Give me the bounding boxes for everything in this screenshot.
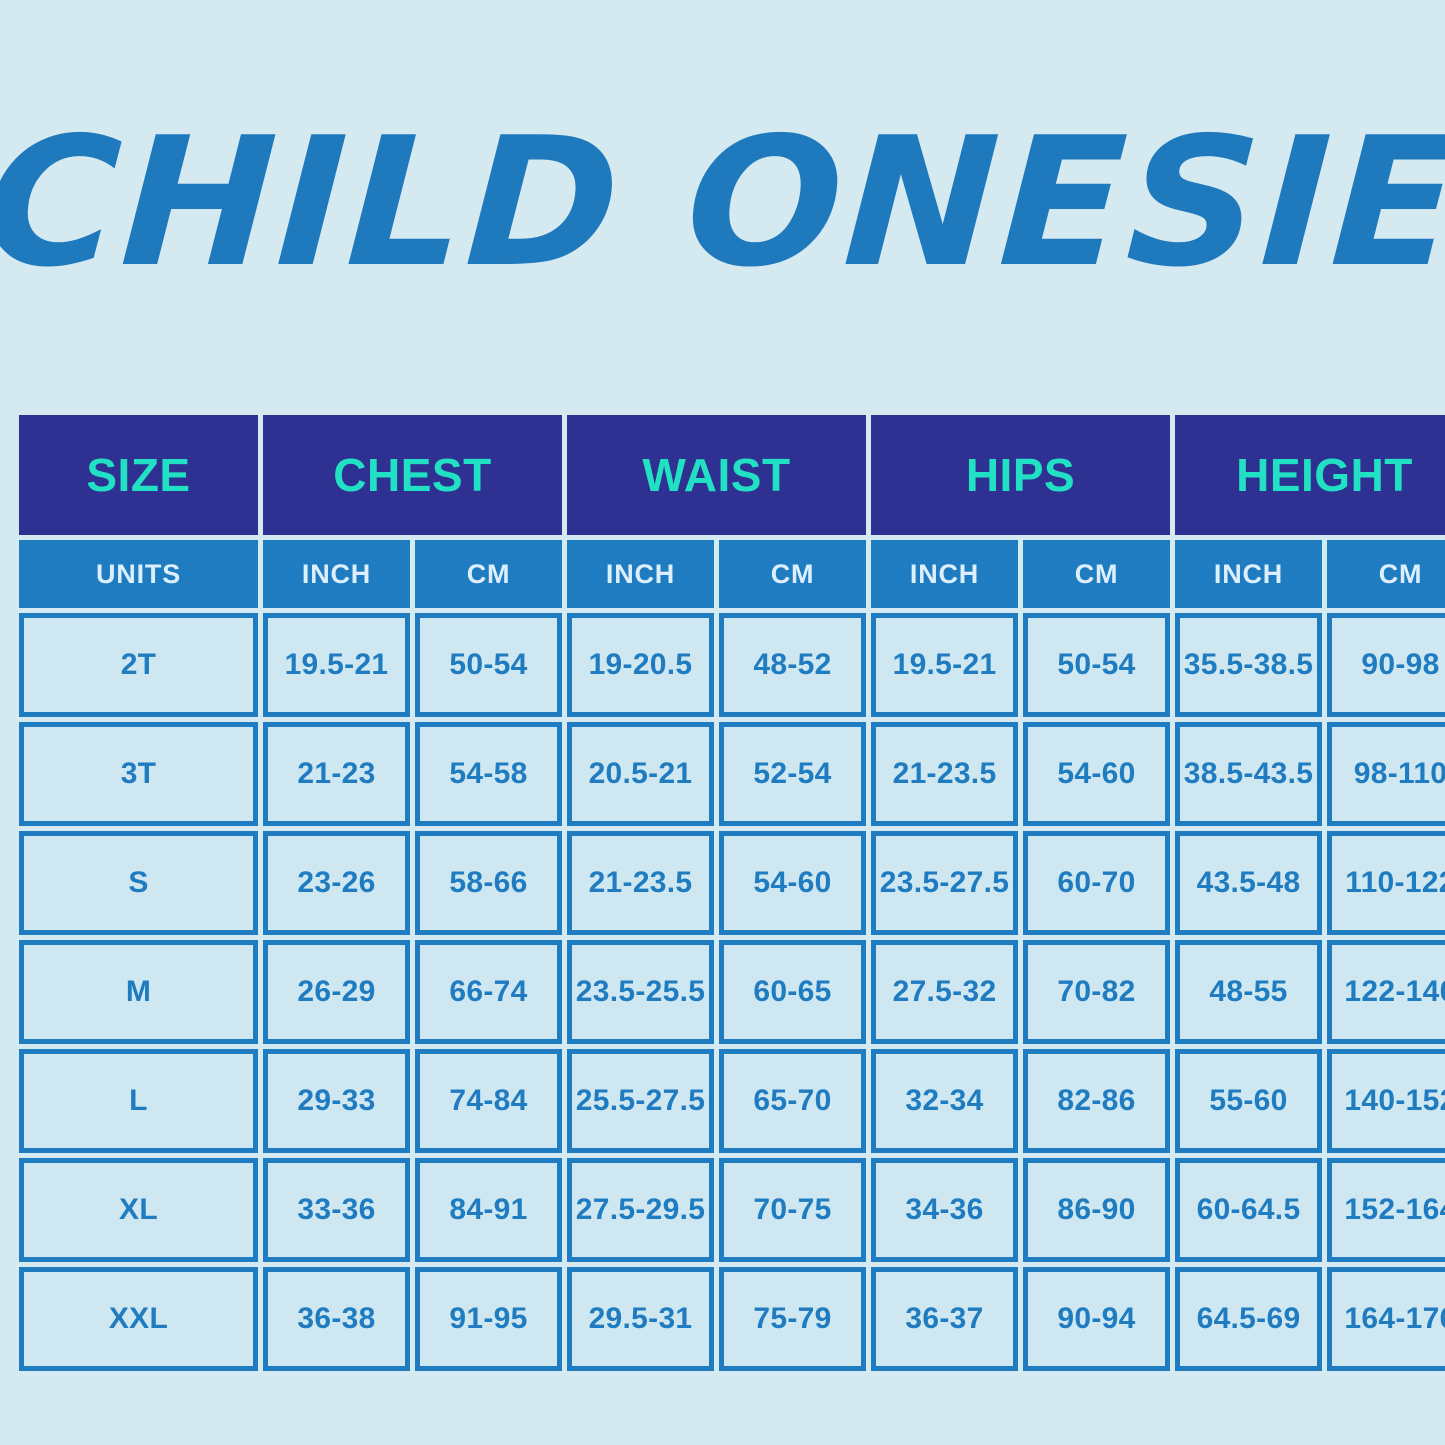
page-title: CHILD ONESIE [0,88,1445,318]
unit-header-height-inch: INCH [1175,540,1322,608]
page-title-text: CHILD ONESIE [0,114,1445,292]
cell-chest-cm: 91-95 [415,1267,562,1371]
cell-waist-inch: 25.5-27.5 [567,1049,714,1153]
group-header-row: SIZE CHEST WAIST HIPS HEIGHT [19,415,1445,535]
table-row: M 26-29 66-74 23.5-25.5 60-65 27.5-32 70… [19,940,1445,1044]
cell-chest-cm: 50-54 [415,613,562,717]
size-chart-page: CHILD ONESIE SIZE CHEST WAIST HIPS HEIGH… [0,0,1445,1445]
cell-chest-cm: 74-84 [415,1049,562,1153]
cell-size: 2T [19,613,258,717]
cell-chest-inch: 33-36 [263,1158,410,1262]
cell-waist-inch: 20.5-21 [567,722,714,826]
cell-hips-cm: 86-90 [1023,1158,1170,1262]
cell-height-cm: 122-140 [1327,940,1445,1044]
cell-hips-cm: 50-54 [1023,613,1170,717]
cell-height-cm: 110-122 [1327,831,1445,935]
cell-height-inch: 64.5-69 [1175,1267,1322,1371]
cell-waist-cm: 75-79 [719,1267,866,1371]
cell-height-inch: 38.5-43.5 [1175,722,1322,826]
cell-waist-cm: 52-54 [719,722,866,826]
cell-height-inch: 43.5-48 [1175,831,1322,935]
cell-waist-cm: 70-75 [719,1158,866,1262]
unit-header-height-cm: CM [1327,540,1445,608]
table-row: XXL 36-38 91-95 29.5-31 75-79 36-37 90-9… [19,1267,1445,1371]
cell-waist-cm: 60-65 [719,940,866,1044]
cell-waist-inch: 23.5-25.5 [567,940,714,1044]
unit-header-waist-inch: INCH [567,540,714,608]
cell-hips-inch: 21-23.5 [871,722,1018,826]
group-header-height: HEIGHT [1175,415,1445,535]
group-header-waist: WAIST [567,415,866,535]
cell-size: M [19,940,258,1044]
cell-size: XL [19,1158,258,1262]
unit-header-chest-cm: CM [415,540,562,608]
cell-height-inch: 35.5-38.5 [1175,613,1322,717]
group-header-hips: HIPS [871,415,1170,535]
unit-header-units: UNITS [19,540,258,608]
cell-hips-inch: 36-37 [871,1267,1018,1371]
cell-size: XXL [19,1267,258,1371]
cell-height-cm: 152-164 [1327,1158,1445,1262]
cell-waist-cm: 54-60 [719,831,866,935]
cell-chest-inch: 36-38 [263,1267,410,1371]
cell-waist-inch: 29.5-31 [567,1267,714,1371]
cell-waist-cm: 48-52 [719,613,866,717]
cell-size: L [19,1049,258,1153]
cell-height-cm: 140-152 [1327,1049,1445,1153]
cell-hips-cm: 70-82 [1023,940,1170,1044]
cell-height-inch: 48-55 [1175,940,1322,1044]
table-row: S 23-26 58-66 21-23.5 54-60 23.5-27.5 60… [19,831,1445,935]
cell-size: 3T [19,722,258,826]
cell-chest-cm: 54-58 [415,722,562,826]
cell-hips-inch: 23.5-27.5 [871,831,1018,935]
unit-header-hips-cm: CM [1023,540,1170,608]
group-header-chest: CHEST [263,415,562,535]
cell-chest-inch: 29-33 [263,1049,410,1153]
table-row: L 29-33 74-84 25.5-27.5 65-70 32-34 82-8… [19,1049,1445,1153]
cell-height-cm: 90-98 [1327,613,1445,717]
cell-waist-inch: 21-23.5 [567,831,714,935]
cell-hips-cm: 82-86 [1023,1049,1170,1153]
cell-chest-cm: 58-66 [415,831,562,935]
cell-height-inch: 55-60 [1175,1049,1322,1153]
cell-chest-inch: 26-29 [263,940,410,1044]
table-row: 3T 21-23 54-58 20.5-21 52-54 21-23.5 54-… [19,722,1445,826]
size-chart-table-wrapper: SIZE CHEST WAIST HIPS HEIGHT UNITS INCH … [14,410,1421,1376]
cell-chest-inch: 23-26 [263,831,410,935]
cell-hips-inch: 19.5-21 [871,613,1018,717]
cell-hips-inch: 27.5-32 [871,940,1018,1044]
group-header-size: SIZE [19,415,258,535]
unit-header-chest-inch: INCH [263,540,410,608]
cell-chest-cm: 66-74 [415,940,562,1044]
cell-hips-inch: 34-36 [871,1158,1018,1262]
cell-waist-inch: 19-20.5 [567,613,714,717]
cell-chest-inch: 21-23 [263,722,410,826]
table-head: SIZE CHEST WAIST HIPS HEIGHT UNITS INCH … [19,415,1445,608]
table-row: 2T 19.5-21 50-54 19-20.5 48-52 19.5-21 5… [19,613,1445,717]
cell-size: S [19,831,258,935]
size-chart-table: SIZE CHEST WAIST HIPS HEIGHT UNITS INCH … [14,410,1445,1376]
unit-header-row: UNITS INCH CM INCH CM INCH CM INCH CM [19,540,1445,608]
cell-height-cm: 98-110 [1327,722,1445,826]
cell-chest-inch: 19.5-21 [263,613,410,717]
table-body: 2T 19.5-21 50-54 19-20.5 48-52 19.5-21 5… [19,613,1445,1371]
cell-waist-inch: 27.5-29.5 [567,1158,714,1262]
cell-hips-cm: 54-60 [1023,722,1170,826]
cell-hips-inch: 32-34 [871,1049,1018,1153]
unit-header-hips-inch: INCH [871,540,1018,608]
cell-chest-cm: 84-91 [415,1158,562,1262]
cell-height-cm: 164-176 [1327,1267,1445,1371]
cell-hips-cm: 60-70 [1023,831,1170,935]
cell-hips-cm: 90-94 [1023,1267,1170,1371]
table-row: XL 33-36 84-91 27.5-29.5 70-75 34-36 86-… [19,1158,1445,1262]
cell-waist-cm: 65-70 [719,1049,866,1153]
unit-header-waist-cm: CM [719,540,866,608]
cell-height-inch: 60-64.5 [1175,1158,1322,1262]
